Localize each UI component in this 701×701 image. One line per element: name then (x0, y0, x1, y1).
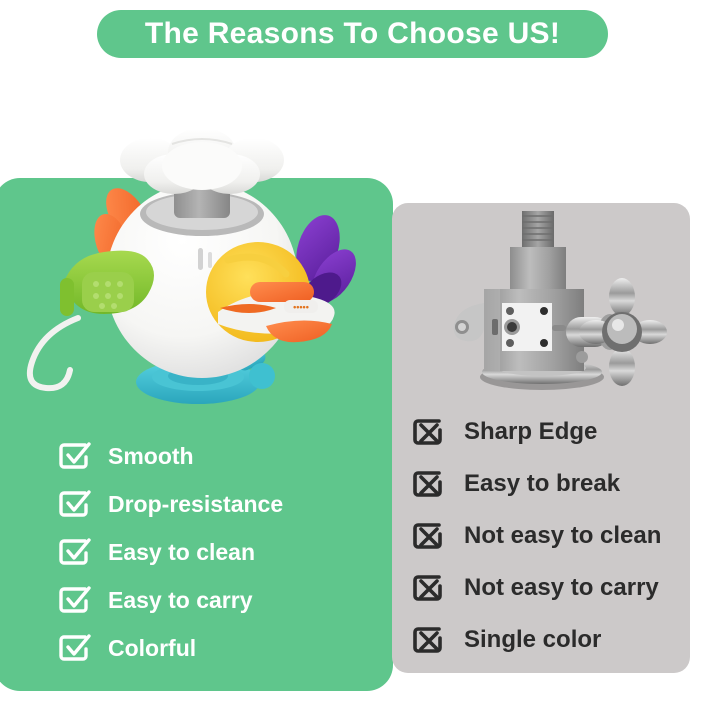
other-product-feature-list: Sharp Edge Easy to break Not easy to cle… (412, 406, 692, 666)
header-banner: The Reasons To Choose US! (97, 10, 608, 58)
list-item[interactable]: Smooth (58, 432, 388, 480)
checkbox-crossed-icon (412, 416, 446, 448)
list-item[interactable]: Sharp Edge (412, 406, 692, 458)
list-item[interactable]: Easy to clean (58, 528, 388, 576)
checkbox-crossed-icon (412, 572, 446, 604)
list-item[interactable]: Not easy to clean (412, 510, 692, 562)
list-item[interactable]: Easy to carry (58, 576, 388, 624)
list-item-label: Easy to carry (108, 589, 252, 612)
list-item[interactable]: Not easy to carry (412, 562, 692, 614)
checkbox-checked-icon (58, 536, 92, 568)
checkbox-crossed-icon (412, 624, 446, 656)
metal-valve-image: Grayscale metal valve fixture with chrom… (430, 205, 680, 405)
list-item-label: Easy to clean (108, 541, 255, 564)
svg-text:•••••: ••••• (293, 302, 309, 312)
list-item-label: Easy to break (464, 472, 620, 496)
list-item-label: Single color (464, 628, 601, 652)
list-item-label: Drop-resistance (108, 493, 283, 516)
checkbox-checked-icon (58, 440, 92, 472)
infographic-root: The Reasons To Choose US! Colorful baby … (0, 0, 701, 701)
list-item[interactable]: Drop-resistance (58, 480, 388, 528)
checkbox-checked-icon (58, 632, 92, 664)
list-item-label: Not easy to carry (464, 576, 659, 600)
toy-svg: ••••• (22, 130, 382, 430)
checkbox-crossed-icon (412, 520, 446, 552)
our-product-feature-list: Smooth Drop-resistance Easy to clean (58, 432, 388, 672)
list-item-label: Not easy to clean (464, 524, 661, 548)
baby-toy-image: Colorful baby sensory activity toy ball … (22, 130, 382, 430)
list-item[interactable]: Easy to break (412, 458, 692, 510)
list-item[interactable]: Single color (412, 614, 692, 666)
list-item-label: Sharp Edge (464, 420, 597, 444)
list-item[interactable]: Colorful (58, 624, 388, 672)
valve-inlet (510, 211, 566, 291)
checkbox-crossed-icon (412, 468, 446, 500)
checkbox-checked-icon (58, 584, 92, 616)
page-title: The Reasons To Choose US! (145, 19, 560, 49)
list-item-label: Colorful (108, 637, 196, 660)
list-item-label: Smooth (108, 445, 194, 468)
valve-svg (430, 205, 680, 405)
checkbox-checked-icon (58, 488, 92, 520)
